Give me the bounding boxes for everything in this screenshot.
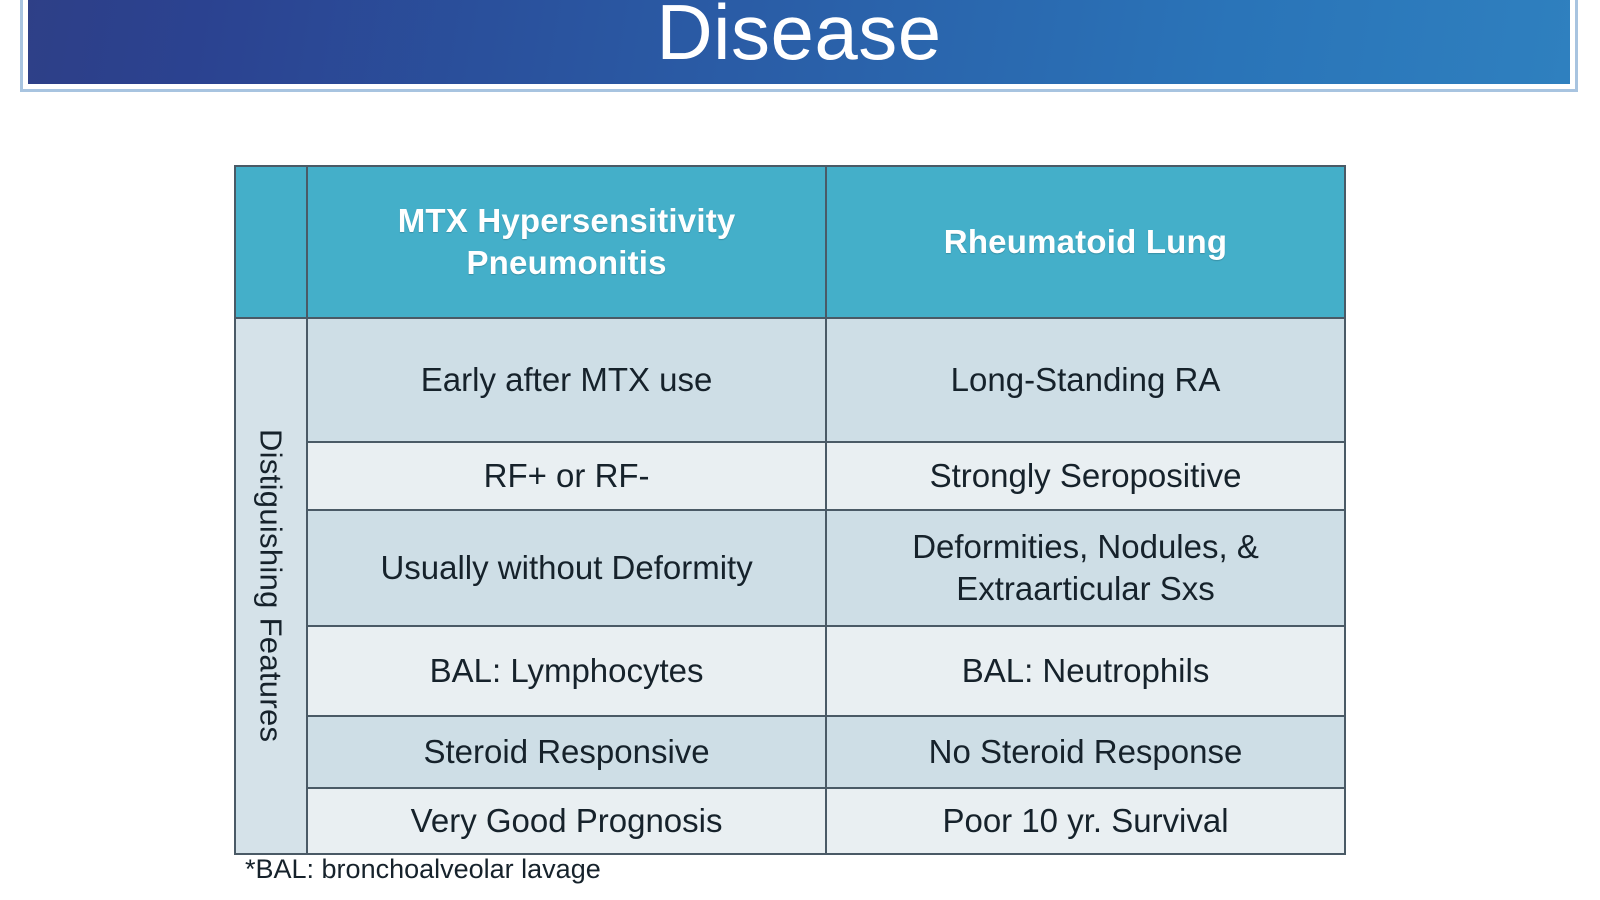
column-header-rheumatoid-lung: Rheumatoid Lung — [826, 166, 1345, 318]
cell-ra-row-6: Poor 10 yr. Survival — [826, 788, 1345, 854]
cell-ra-row-4: BAL: Neutrophils — [826, 626, 1345, 716]
comparison-table: MTX Hypersensitivity Pneumonitis Rheumat… — [234, 165, 1346, 855]
table-corner-cell — [235, 166, 307, 318]
side-label-text: Distiguishing Features — [256, 429, 287, 742]
cell-ra-row-1: Long-Standing RA — [826, 318, 1345, 442]
cell-mtx-row-1: Early after MTX use — [307, 318, 826, 442]
cell-ra-row-2: Strongly Seropositive — [826, 442, 1345, 510]
footnote-bal-abbreviation: *BAL: bronchoalveolar lavage — [245, 852, 601, 886]
table-row: RF+ or RF- Strongly Seropositive — [235, 442, 1345, 510]
cell-mtx-row-6: Very Good Prognosis — [307, 788, 826, 854]
page-title: Disease — [656, 0, 941, 76]
column-header-mtx: MTX Hypersensitivity Pneumonitis — [307, 166, 826, 318]
cell-ra-row-5: No Steroid Response — [826, 716, 1345, 788]
cell-mtx-row-2: RF+ or RF- — [307, 442, 826, 510]
slide-title-banner: Methotrexate Lung Disease — [20, 0, 1578, 92]
table-header-row: MTX Hypersensitivity Pneumonitis Rheumat… — [235, 166, 1345, 318]
table-row: Distiguishing Features Early after MTX u… — [235, 318, 1345, 442]
table-row: Steroid Responsive No Steroid Response — [235, 716, 1345, 788]
cell-mtx-row-4: BAL: Lymphocytes — [307, 626, 826, 716]
cell-ra-row-3: Deformities, Nodules, & Extraarticular S… — [826, 510, 1345, 626]
side-label-distiguishing-features: Distiguishing Features — [235, 318, 307, 854]
slide-title-banner-fill: Methotrexate Lung Disease — [28, 0, 1570, 84]
table-row: Very Good Prognosis Poor 10 yr. Survival — [235, 788, 1345, 854]
table-row: BAL: Lymphocytes BAL: Neutrophils — [235, 626, 1345, 716]
cell-mtx-row-3: Usually without Deformity — [307, 510, 826, 626]
table-header: MTX Hypersensitivity Pneumonitis Rheumat… — [235, 166, 1345, 318]
table-row: Usually without Deformity Deformities, N… — [235, 510, 1345, 626]
cell-mtx-row-5: Steroid Responsive — [307, 716, 826, 788]
table-body: Distiguishing Features Early after MTX u… — [235, 318, 1345, 854]
